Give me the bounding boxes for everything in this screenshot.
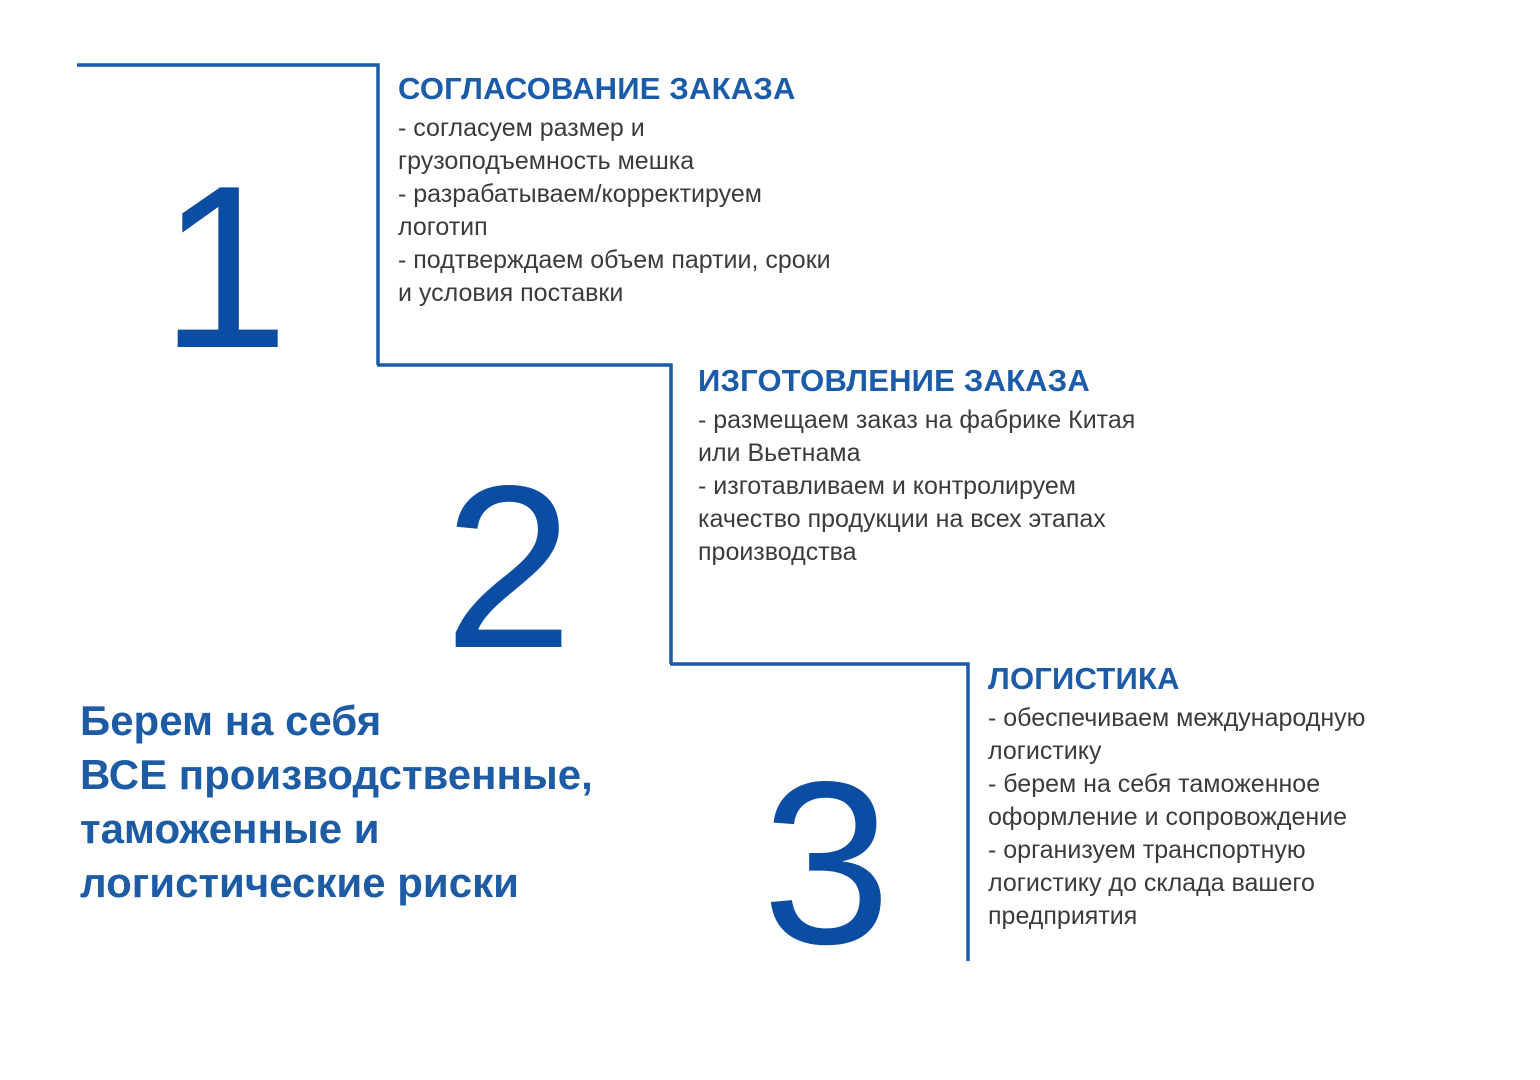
step-block-1: СОГЛАСОВАНИЕ ЗАКАЗА - согласуем размер и…	[398, 72, 1018, 310]
step-2-body: - размещаем заказ на фабрике Китая или В…	[698, 404, 1298, 569]
step-number-3: 3	[762, 748, 889, 980]
step-3-title: ЛОГИСТИКА	[988, 662, 1508, 695]
step-block-2: ИЗГОТОВЛЕНИЕ ЗАКАЗА - размещаем заказ на…	[698, 364, 1298, 569]
slogan-text: Берем на себя ВСЕ производственные, тамо…	[80, 694, 780, 910]
step-number-1: 1	[160, 152, 287, 384]
infographic-canvas: 1 2 3 СОГЛАСОВАНИЕ ЗАКАЗА - согласуем ра…	[0, 0, 1540, 1080]
step-1-title: СОГЛАСОВАНИЕ ЗАКАЗА	[398, 72, 1018, 105]
step-2-title: ИЗГОТОВЛЕНИЕ ЗАКАЗА	[698, 364, 1298, 397]
step-3-body: - обеспечиваем международную логистику -…	[988, 702, 1508, 933]
step-block-3: ЛОГИСТИКА - обеспечиваем международную л…	[988, 662, 1508, 933]
step-1-body: - согласуем размер и грузоподъемность ме…	[398, 112, 1018, 310]
step-number-2: 2	[444, 452, 571, 684]
